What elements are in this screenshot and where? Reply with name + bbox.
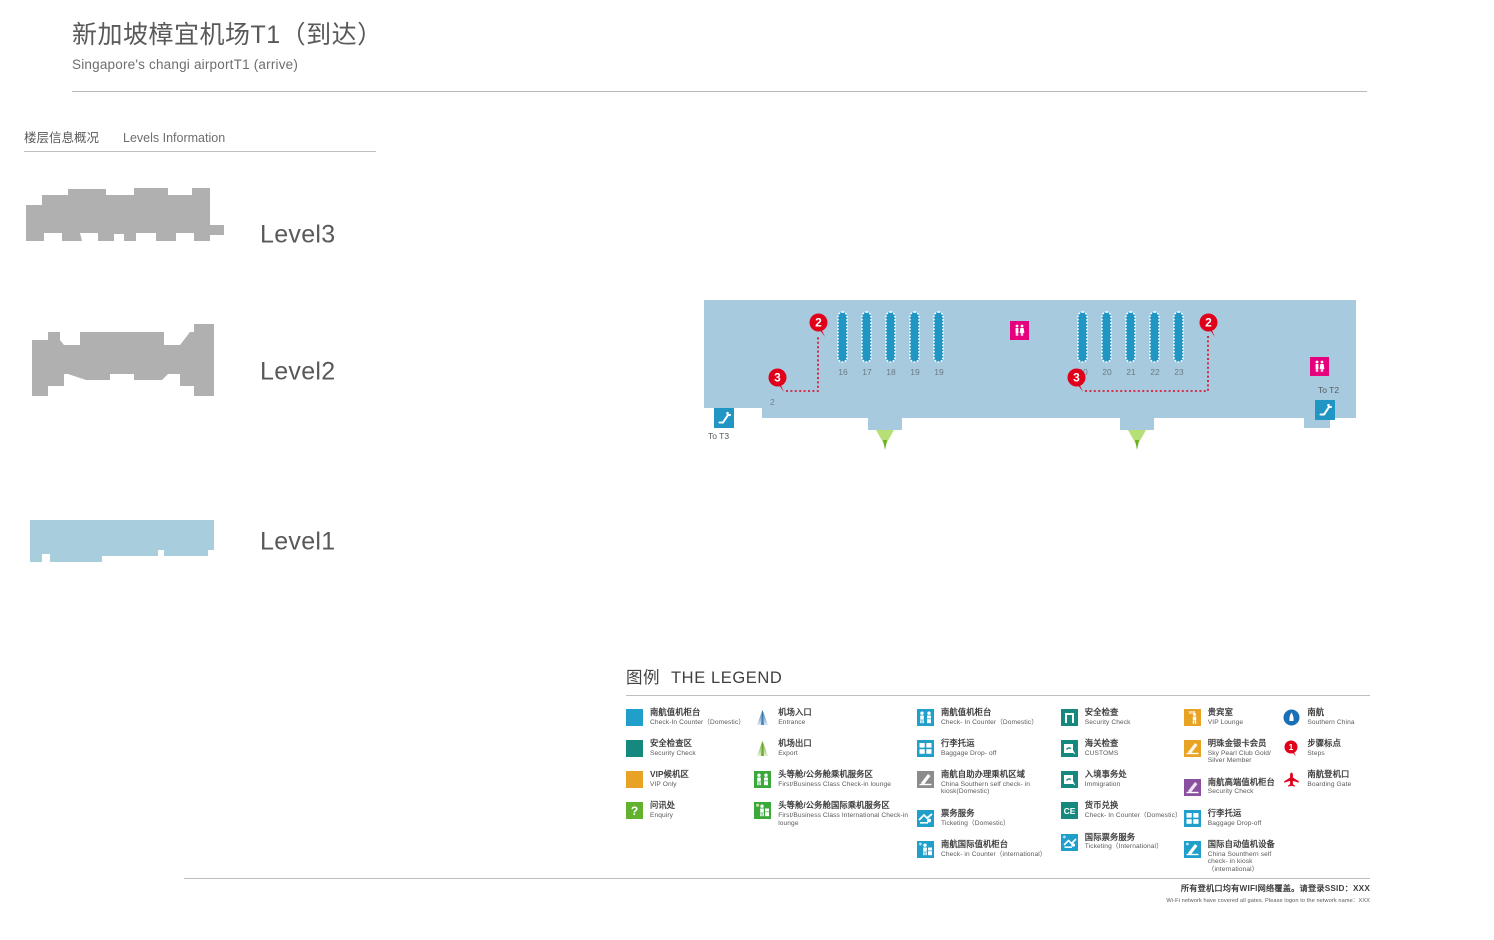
legend-label-cn: 海关检查: [1085, 739, 1119, 748]
currency-exchange-icon: CE: [1061, 802, 1078, 819]
legend-item[interactable]: 南航自助办理乘机区域 China Southern self check- in…: [917, 770, 1061, 796]
legend-label-cn: 步骤标点: [1307, 739, 1341, 748]
legend-label-en: Enquiry: [650, 812, 675, 819]
legend-label-cn: VIP候机区: [650, 770, 689, 779]
legend-label-en: Check- in Counter（international）: [941, 851, 1046, 858]
customs-icon: [1061, 740, 1078, 757]
checkin-counter-intl-icon: [917, 841, 934, 858]
legend-label-cn: 问讯处: [650, 801, 675, 810]
page-header: 新加坡樟宜机场T1（到达） Singapore's changi airport…: [72, 20, 1367, 72]
immigration-icon: [1061, 771, 1078, 788]
sky-pearl-club-icon: [1184, 740, 1201, 757]
ticketing-icon: [917, 810, 934, 827]
legend-item[interactable]: 1 步骤标点 Steps: [1283, 739, 1370, 757]
legend-item[interactable]: 南航值机柜台 Check-In Counter（Domestic）: [626, 708, 754, 726]
legend-item[interactable]: 安全检查区 Security Check: [626, 739, 754, 757]
footer-divider: [184, 878, 1370, 879]
security-gate-icon: [1061, 709, 1078, 726]
legend-item[interactable]: 机场出口 Export: [754, 739, 917, 757]
entrance-cone-icon: [754, 709, 771, 726]
legend-label-en: Sky Pearl Club Gold/ Silver Member: [1208, 750, 1284, 765]
legend-label-cn: 头等舱/公务舱乘机服务区: [778, 770, 891, 779]
legend-label-cn: 票务服务: [941, 809, 1010, 818]
legend-item[interactable]: VIP 贵宾室 VIP Lounge: [1184, 708, 1284, 726]
legend-item[interactable]: VIP候机区 VIP Only: [626, 770, 754, 788]
legend-label-cn: 南航值机柜台: [941, 708, 1038, 717]
legend-column-3: 南航值机柜台 Check- In Counter（Domestic） 行李托运 …: [917, 708, 1061, 886]
levels-divider: [24, 151, 376, 152]
legend-label-en: Entrance: [778, 719, 812, 726]
svg-text:1: 1: [1289, 742, 1294, 752]
legend-item[interactable]: ? 问讯处 Enquiry: [626, 801, 754, 819]
legend-item[interactable]: 行李托运 Baggage Drop- off: [917, 739, 1061, 757]
legend-label-cn: 机场出口: [778, 739, 812, 748]
exit-arrow-left: [876, 430, 894, 450]
legend-column-2: 机场入口 Entrance 机场出口 Export: [754, 708, 917, 886]
legend-item[interactable]: CE 货币兑换 Check- In Counter（Domestic）: [1061, 801, 1184, 819]
levels-section-header: 楼层信息概况 Levels Information: [24, 127, 376, 152]
level-2-thumbnail[interactable]: [24, 312, 236, 432]
swatch-teal-icon: [626, 740, 643, 757]
legend-item[interactable]: 票务服务 Ticketing（Domestic）: [917, 809, 1061, 827]
footer-wifi-notice: 所有登机口均有WIFI网络覆盖。请登录SSID：XXX Wi-Fi networ…: [1166, 882, 1370, 904]
legend-label-en: Baggage Drop- off: [941, 750, 996, 757]
exit-arrow-right: [1128, 430, 1146, 450]
legend-label-en: Check- In Counter（Domestic）: [941, 719, 1038, 726]
legend-label-en: China Southern self check- in kiosk(Dome…: [941, 781, 1061, 796]
question-mark-icon: ?: [626, 802, 643, 819]
legend-item[interactable]: 头等舱/公务舱国际乘机服务区 First/Business Class Inte…: [754, 801, 917, 827]
legend-label-cn: 安全检查区: [650, 739, 696, 748]
wifi-notice-cn: 所有登机口均有WIFI网络覆盖。请登录SSID：XXX: [1166, 882, 1370, 894]
step-marker-icon: 1: [1283, 740, 1300, 757]
level-row-3[interactable]: Level3: [24, 175, 364, 295]
legend-item[interactable]: 头等舱/公务舱乘机服务区 First/Business Class Check-…: [754, 770, 917, 788]
legend-label-cn: 南航: [1307, 708, 1354, 717]
vip-lounge-icon: VIP: [1184, 709, 1201, 726]
legend-label-en: First/Business Class Check-in lounge: [778, 781, 891, 788]
checkin-counter-icon: [917, 709, 934, 726]
level-row-1[interactable]: Level1: [24, 482, 364, 602]
legend-item[interactable]: 安全检查 Security Check: [1061, 708, 1184, 726]
legend-item[interactable]: 南航高端值机柜台 Security Check: [1184, 778, 1284, 796]
legend-title: 图例 THE LEGEND: [626, 664, 1370, 688]
legend-title-en: THE LEGEND: [671, 669, 782, 688]
legend-item[interactable]: 南航值机柜台 Check- In Counter（Domestic）: [917, 708, 1061, 726]
legend-column-1: 南航值机柜台 Check-In Counter（Domestic） 安全检查区 …: [626, 708, 754, 886]
legend-label-en: Ticketing（International）: [1085, 843, 1163, 850]
legend-label-cn: 南航高端值机柜台: [1208, 778, 1275, 787]
legend-label-en: Check-In Counter（Domestic）: [650, 719, 745, 726]
legend-label-cn: 明珠金银卡会员: [1208, 739, 1284, 748]
baggage-drop-icon-2: [1184, 810, 1201, 827]
legend-label-en: China Sounthern self check- in kiosk（int…: [1208, 851, 1284, 873]
legend-label-cn: 行李托运: [1208, 809, 1262, 818]
legend-label-en: Southern China: [1307, 719, 1354, 726]
terminal-floor-map[interactable]: 16 17 18 19 19 20 20 21 22 23 2 2 3: [690, 290, 1370, 465]
legend-label-en: VIP Only: [650, 781, 689, 788]
level-1-label: Level1: [260, 528, 335, 557]
ticketing-intl-icon: [1061, 834, 1078, 851]
legend-label-cn: 南航登机口: [1307, 770, 1351, 779]
exit-cone-icon: [754, 740, 771, 757]
legend-label-en: Security Check: [1208, 788, 1275, 795]
premium-checkin-icon: [1184, 779, 1201, 796]
legend-label-en: VIP Lounge: [1208, 719, 1243, 726]
legend-label-cn: 国际自动值机设备: [1208, 840, 1284, 849]
legend-label-cn: 安全检查: [1085, 708, 1131, 717]
legend-item[interactable]: 海关检查 CUSTOMS: [1061, 739, 1184, 757]
legend-label-cn: 头等舱/公务舱国际乘机服务区: [778, 801, 917, 810]
legend-label-cn: 机场入口: [778, 708, 812, 717]
baggage-drop-icon: [917, 740, 934, 757]
legend-label-cn: 入境事务处: [1085, 770, 1127, 779]
self-checkin-kiosk-icon: [917, 771, 934, 788]
legend-title-cn: 图例: [626, 664, 660, 688]
legend-label-en: Ticketing（Domestic）: [941, 820, 1010, 827]
swatch-orange-icon: [626, 771, 643, 788]
legend-item[interactable]: 国际自动值机设备 China Sounthern self check- in …: [1184, 840, 1284, 873]
legend-item[interactable]: 南航国际值机柜台 Check- in Counter（international…: [917, 840, 1061, 858]
legend-column-4: 安全检查 Security Check 海关检查 CUSTOMS: [1061, 708, 1184, 886]
boarding-gate-plane-icon: [1283, 771, 1300, 788]
level-1-thumbnail[interactable]: [24, 482, 236, 602]
legend-label-cn: 南航值机柜台: [650, 708, 745, 717]
legend-item[interactable]: 国际票务服务 Ticketing（International）: [1061, 833, 1184, 851]
legend-item[interactable]: 明珠金银卡会员 Sky Pearl Club Gold/ Silver Memb…: [1184, 739, 1284, 765]
levels-heading-en: Levels Information: [123, 131, 225, 145]
checkin-lounge-intl-icon: [754, 802, 771, 819]
legend-label-en: CUSTOMS: [1085, 750, 1119, 757]
level-3-label: Level3: [260, 221, 335, 250]
swatch-blue-icon: [626, 709, 643, 726]
legend-label-en: Export: [778, 750, 812, 757]
legend-section: 图例 THE LEGEND 南航值机柜台 Check-In Counter（Do…: [626, 664, 1370, 886]
self-checkin-kiosk-intl-icon: [1184, 841, 1201, 858]
legend-label-en: Security Check: [650, 750, 696, 757]
legend-label-cn: 货币兑换: [1085, 801, 1182, 810]
southern-china-logo-icon: [1283, 709, 1300, 726]
header-divider: [72, 91, 1367, 92]
page-title-en: Singapore's changi airportT1 (arrive): [72, 57, 1367, 72]
svg-text:?: ?: [631, 804, 638, 818]
level-2-label: Level2: [260, 358, 335, 387]
svg-text:CE: CE: [1063, 806, 1075, 816]
legend-label-cn: 贵宾室: [1208, 708, 1243, 717]
page-title-cn: 新加坡樟宜机场T1（到达）: [72, 20, 1367, 51]
legend-label-en: Immigration: [1085, 781, 1127, 788]
level-row-2[interactable]: Level2: [24, 312, 364, 432]
level-3-thumbnail[interactable]: [24, 175, 236, 295]
legend-divider: [626, 695, 1370, 696]
legend-column-5: VIP 贵宾室 VIP Lounge 明珠金银卡会员 Sky Pearl C: [1184, 708, 1284, 886]
wifi-notice-en: Wi-Fi network have covered all gates. Pl…: [1166, 896, 1370, 904]
legend-label-en: Security Check: [1085, 719, 1131, 726]
levels-heading-cn: 楼层信息概况: [24, 127, 99, 146]
legend-label-cn: 南航国际值机柜台: [941, 840, 1046, 849]
legend-label-en: Boarding Gate: [1307, 781, 1351, 788]
legend-label-cn: 行李托运: [941, 739, 996, 748]
legend-label-cn: 南航自助办理乘机区域: [941, 770, 1061, 779]
legend-label-en: First/Business Class International Check…: [778, 812, 917, 827]
legend-label-en: Steps: [1307, 750, 1341, 757]
legend-item[interactable]: 入境事务处 Immigration: [1061, 770, 1184, 788]
legend-column-6: 南航 Southern China 1 步骤标点 Steps: [1283, 708, 1370, 886]
legend-item[interactable]: 南航 Southern China: [1283, 708, 1370, 726]
legend-label-cn: 国际票务服务: [1085, 833, 1163, 842]
legend-item[interactable]: 机场入口 Entrance: [754, 708, 917, 726]
checkin-lounge-icon: [754, 771, 771, 788]
legend-label-en: Baggage Drop-off: [1208, 820, 1262, 827]
legend-label-en: Check- In Counter（Domestic）: [1085, 812, 1182, 819]
legend-item[interactable]: 行李托运 Baggage Drop-off: [1184, 809, 1284, 827]
legend-item[interactable]: 南航登机口 Boarding Gate: [1283, 770, 1370, 788]
